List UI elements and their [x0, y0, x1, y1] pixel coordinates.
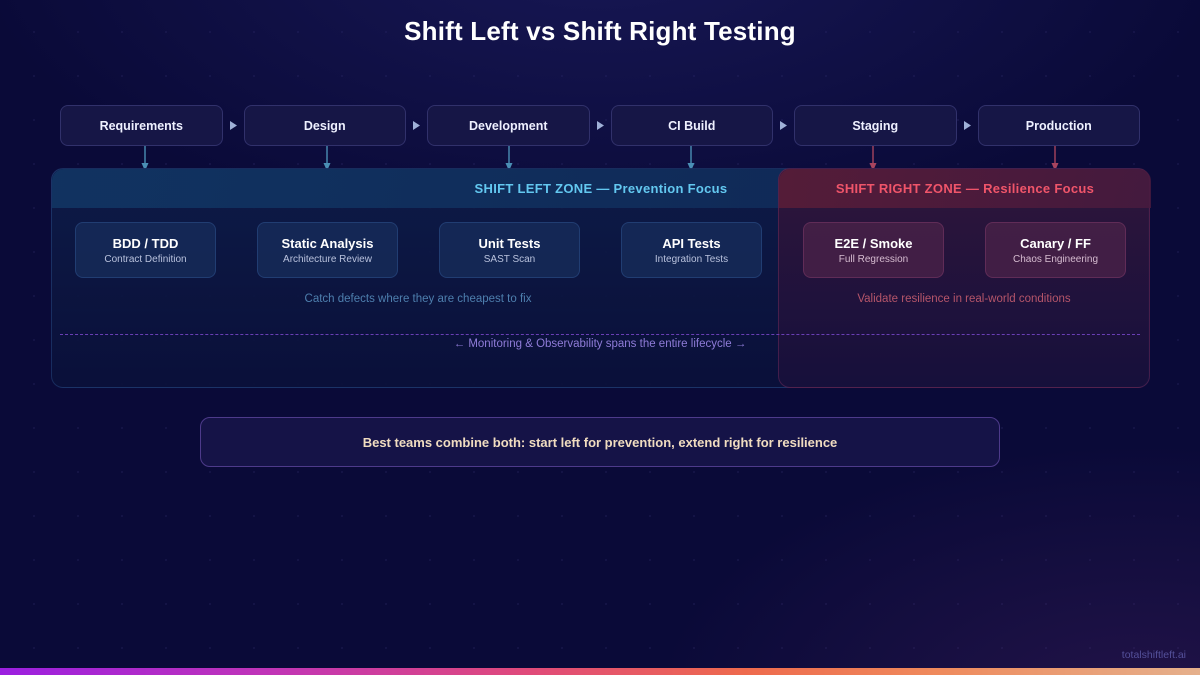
pipeline-row: Requirements Design Development CI Build… [60, 105, 1140, 146]
practice-card-unit-tests[interactable]: Unit Tests SAST Scan [439, 222, 580, 278]
triangle-right-icon [773, 105, 794, 146]
practice-card-title: Static Analysis [281, 236, 373, 251]
pipeline-stage-production[interactable]: Production [978, 105, 1141, 146]
pipeline-stage-ci-build[interactable]: CI Build [611, 105, 774, 146]
practice-card-subtitle: Full Regression [839, 254, 908, 265]
practice-card-subtitle: Contract Definition [104, 254, 186, 265]
shift-right-zone-caption: Validate resilience in real-world condit… [778, 293, 1150, 305]
page-title: Shift Left vs Shift Right Testing [0, 16, 1200, 47]
pipeline-stage-label: CI Build [668, 119, 715, 133]
summary-banner-text: Best teams combine both: start left for … [363, 435, 838, 450]
bottom-gradient-strip [0, 668, 1200, 675]
pipeline-stage-label: Staging [852, 119, 898, 133]
triangle-right-icon [406, 105, 427, 146]
triangle-right-icon [223, 105, 244, 146]
practice-card-title: Unit Tests [479, 236, 541, 251]
practice-card-canary-ff[interactable]: Canary / FF Chaos Engineering [985, 222, 1126, 278]
practice-card-subtitle: Architecture Review [283, 254, 372, 265]
watermark: totalshiftleft.ai [1122, 649, 1186, 661]
shift-left-zone-header-label: SHIFT LEFT ZONE — Prevention Focus [475, 181, 728, 196]
pipeline-stage-design[interactable]: Design [244, 105, 407, 146]
pipeline-stage-staging[interactable]: Staging [794, 105, 957, 146]
triangle-right-icon [957, 105, 978, 146]
practice-card-subtitle: Chaos Engineering [1013, 254, 1098, 265]
shift-left-zone-caption: Catch defects where they are cheapest to… [51, 293, 785, 305]
practice-card-bdd-tdd[interactable]: BDD / TDD Contract Definition [75, 222, 216, 278]
pipeline-stage-label: Development [469, 119, 548, 133]
shift-right-zone-panel: SHIFT RIGHT ZONE — Resilience Focus [778, 168, 1150, 388]
practice-card-subtitle: SAST Scan [484, 254, 536, 265]
practice-card-title: Canary / FF [1020, 236, 1091, 251]
triangle-right-icon [590, 105, 611, 146]
practice-card-e2e-smoke[interactable]: E2E / Smoke Full Regression [803, 222, 944, 278]
practice-card-subtitle: Integration Tests [655, 254, 728, 265]
monitoring-observability-label: ← Monitoring & Observability spans the e… [0, 338, 1200, 350]
practice-card-static-analysis[interactable]: Static Analysis Architecture Review [257, 222, 398, 278]
practice-card-title: BDD / TDD [113, 236, 179, 251]
pipeline-stage-label: Design [304, 119, 346, 133]
pipeline-stage-development[interactable]: Development [427, 105, 590, 146]
monitoring-dashed-divider [60, 334, 1140, 335]
pipeline-stage-label: Requirements [100, 119, 183, 133]
practice-card-title: E2E / Smoke [834, 236, 912, 251]
pipeline-stage-requirements[interactable]: Requirements [60, 105, 223, 146]
pipeline-stage-label: Production [1026, 119, 1092, 133]
practice-card-api-tests[interactable]: API Tests Integration Tests [621, 222, 762, 278]
shift-right-zone-header: SHIFT RIGHT ZONE — Resilience Focus [779, 169, 1151, 208]
practice-card-title: API Tests [662, 236, 720, 251]
shift-right-zone-header-label: SHIFT RIGHT ZONE — Resilience Focus [836, 181, 1094, 196]
summary-banner: Best teams combine both: start left for … [200, 417, 1000, 467]
